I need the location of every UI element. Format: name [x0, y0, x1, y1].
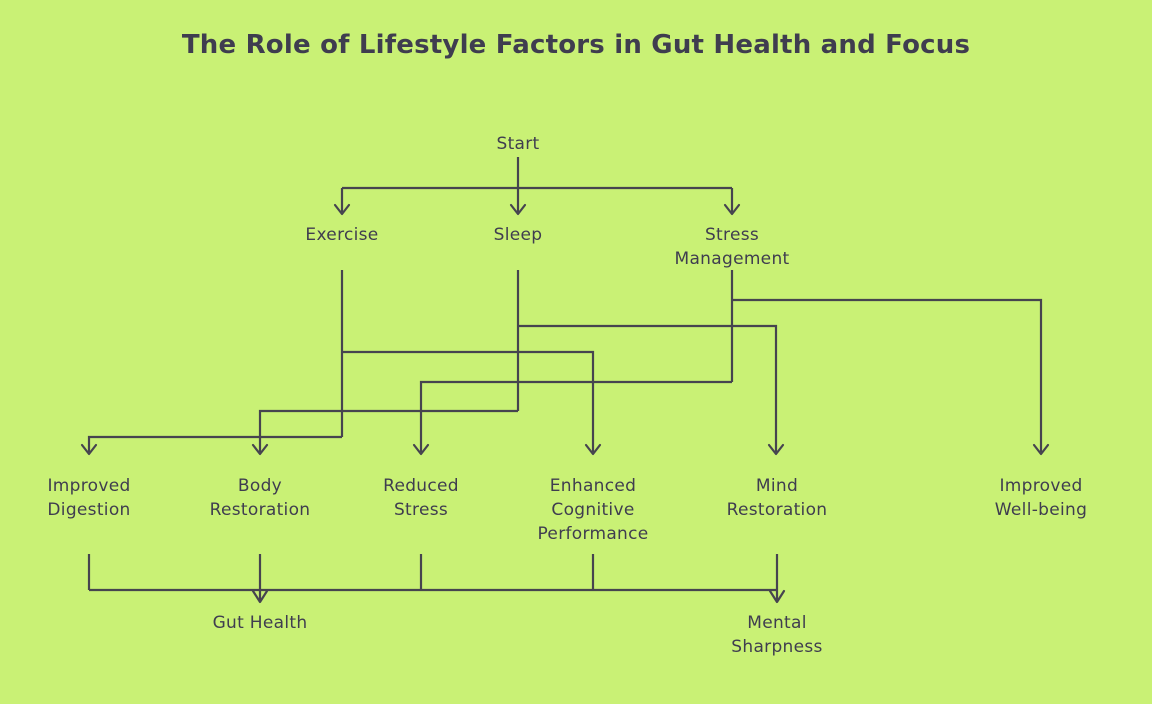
edge-exercise-to-improved-digestion — [89, 437, 342, 452]
node-sleep[interactable]: Sleep — [494, 223, 543, 247]
edge-stress-management-to-reduced-stress — [421, 382, 732, 452]
node-exercise[interactable]: Exercise — [305, 223, 378, 247]
flowchart-edges — [0, 0, 1152, 704]
node-enhanced-cognitive-performance[interactable]: Enhanced Cognitive Performance — [537, 474, 648, 546]
node-gut-health[interactable]: Gut Health — [213, 611, 308, 635]
edge-sleep-to-body-restoration — [260, 411, 518, 452]
node-improved-digestion[interactable]: Improved Digestion — [47, 474, 130, 522]
edge-stress-management-to-improved-wellbeing — [732, 300, 1041, 452]
node-improved-wellbeing[interactable]: Improved Well-being — [995, 474, 1087, 522]
node-stress-management[interactable]: Stress Management — [675, 223, 790, 271]
edge-sleep-to-enhanced-cognitive-performance — [518, 326, 776, 452]
node-start[interactable]: Start — [496, 132, 539, 156]
diagram-canvas: The Role of Lifestyle Factors in Gut Hea… — [0, 0, 1152, 704]
node-mental-sharpness[interactable]: Mental Sharpness — [731, 611, 822, 659]
node-body-restoration[interactable]: Body Restoration — [210, 474, 311, 522]
node-reduced-stress[interactable]: Reduced Stress — [383, 474, 459, 522]
edge-exercise-to-reduced-stress — [342, 352, 593, 452]
node-mind-restoration[interactable]: Mind Restoration — [727, 474, 828, 522]
